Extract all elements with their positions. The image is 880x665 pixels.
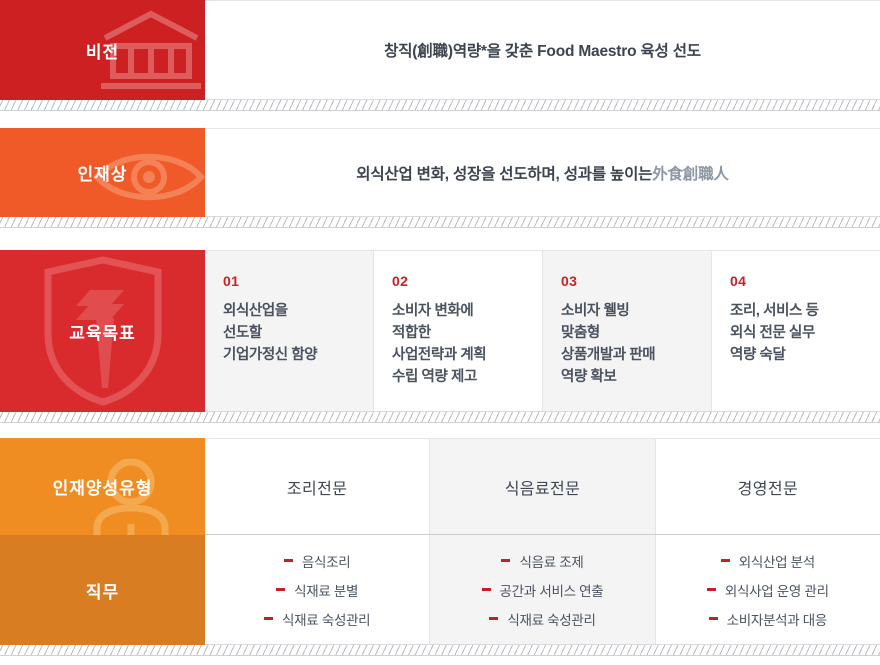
duty-column-1: 음식조리 식재료 분별 식재료 숙성관리 [205,535,430,644]
row-talent-label-cell: 인재상 [0,128,205,217]
duty-label: 식재료 분별 [294,580,358,600]
list-item: 공간과 서비스 연출 [482,580,604,600]
duty-label: 음식조리 [302,551,350,571]
row-types: 인재양성유형 조리전문 식음료전문 경영전문 [0,438,880,535]
dash-bullet-icon [489,617,498,620]
row-duties: 직무 음식조리 식재료 분별 식재료 숙성관리 [0,535,880,645]
row-types-content: 조리전문 식음료전문 경영전문 [205,438,880,535]
row-vision-label-cell: 비전 [0,0,205,100]
goal-column-4: 04 조리, 서비스 등 외식 전문 실무 역량 숙달 [712,251,880,411]
duty-label: 식재료 숙성관리 [282,609,370,629]
row-duties-label-cell: 직무 [0,535,205,645]
dash-bullet-icon [276,588,285,591]
goal-column-3: 03 소비자 웰빙 맞춤형 상품개발과 판매 역량 확보 [543,251,712,411]
dash-bullet-icon [707,588,716,591]
goal-number-1: 01 [223,273,373,289]
row-goals-label: 교육목표 [69,319,136,344]
row-vision-label: 비전 [86,38,119,63]
list-item: 식재료 숙성관리 [489,609,595,629]
row-talent: 인재상 외식산업 변화, 성장을 선도하며, 성과를 높이는 外食創職人 [0,128,880,217]
goal-column-1: 01 외식산업을 선도할 기업가정신 함양 [205,251,374,411]
goal-number-3: 03 [561,273,711,289]
list-item: 외식사업 운영 관리 [707,580,829,600]
type-column-1: 조리전문 [205,439,430,534]
list-item: 식재료 분별 [276,580,358,600]
divider-hatch-5 [0,645,880,656]
duty-label: 식음료 조제 [519,551,583,571]
vision-statement: 창직(創職)역량*을 갖춘 Food Maestro 육성 선도 [205,1,880,99]
goal-text-2: 소비자 변화에 적합한 사업전략과 계획 수립 역량 제고 [392,300,542,388]
duty-label: 소비자분석과 대응 [727,609,827,629]
row-types-label: 인재양성유형 [53,474,153,499]
duty-column-3: 외식산업 분석 외식사업 운영 관리 소비자분석과 대응 [656,535,880,644]
goal-text-3: 소비자 웰빙 맞춤형 상품개발과 판매 역량 확보 [561,300,711,388]
dash-bullet-icon [501,559,510,562]
dash-bullet-icon [721,559,730,562]
duty-label: 외식산업 분석 [739,551,815,571]
talent-statement-korean: 외식산업 변화, 성장을 선도하며, 성과를 높이는 [356,162,652,184]
duty-label: 외식사업 운영 관리 [725,580,829,600]
dash-bullet-icon [284,559,293,562]
dash-bullet-icon [264,617,273,620]
goal-text-1: 외식산업을 선도할 기업가정신 함양 [223,300,373,366]
row-goals: 교육목표 01 외식산업을 선도할 기업가정신 함양 02 소비자 변화에 적합… [0,250,880,412]
row-vision: 비전 창직(創職)역량*을 갖춘 Food Maestro 육성 선도 [0,0,880,100]
talent-statement-hanja: 外食創職人 [652,162,729,184]
list-item: 식재료 숙성관리 [264,609,370,629]
goal-number-2: 02 [392,273,542,289]
row-talent-label: 인재상 [78,160,128,185]
row-duties-content: 음식조리 식재료 분별 식재료 숙성관리 식음료 조제 공간 [205,535,880,645]
row-duties-label: 직무 [86,578,119,603]
dash-bullet-icon [482,588,491,591]
list-item: 식음료 조제 [501,551,583,571]
competency-framework-diagram: 비전 창직(創職)역량*을 갖춘 Food Maestro 육성 선도 인재상 [0,0,880,665]
row-goals-label-cell: 교육목표 [0,250,205,412]
row-types-label-cell: 인재양성유형 [0,438,205,535]
goal-column-2: 02 소비자 변화에 적합한 사업전략과 계획 수립 역량 제고 [374,251,543,411]
talent-statement: 외식산업 변화, 성장을 선도하며, 성과를 높이는 外食創職人 [205,129,880,216]
goal-number-4: 04 [730,273,880,289]
divider-hatch-1 [0,100,880,111]
dash-bullet-icon [709,617,718,620]
duty-column-2: 식음료 조제 공간과 서비스 연출 식재료 숙성관리 [430,535,655,644]
list-item: 음식조리 [284,551,350,571]
row-vision-content: 창직(創職)역량*을 갖춘 Food Maestro 육성 선도 [205,0,880,100]
divider-hatch-2 [0,217,880,228]
duty-label: 공간과 서비스 연출 [500,580,604,600]
duty-label: 식재료 숙성관리 [507,609,595,629]
row-talent-content: 외식산업 변화, 성장을 선도하며, 성과를 높이는 外食創職人 [205,128,880,217]
type-column-2: 식음료전문 [430,439,655,534]
row-goals-content: 01 외식산업을 선도할 기업가정신 함양 02 소비자 변화에 적합한 사업전… [205,250,880,412]
goal-text-4: 조리, 서비스 등 외식 전문 실무 역량 숙달 [730,300,880,366]
list-item: 외식산업 분석 [721,551,815,571]
list-item: 소비자분석과 대응 [709,609,827,629]
divider-hatch-3 [0,412,880,423]
type-column-3: 경영전문 [656,439,880,534]
